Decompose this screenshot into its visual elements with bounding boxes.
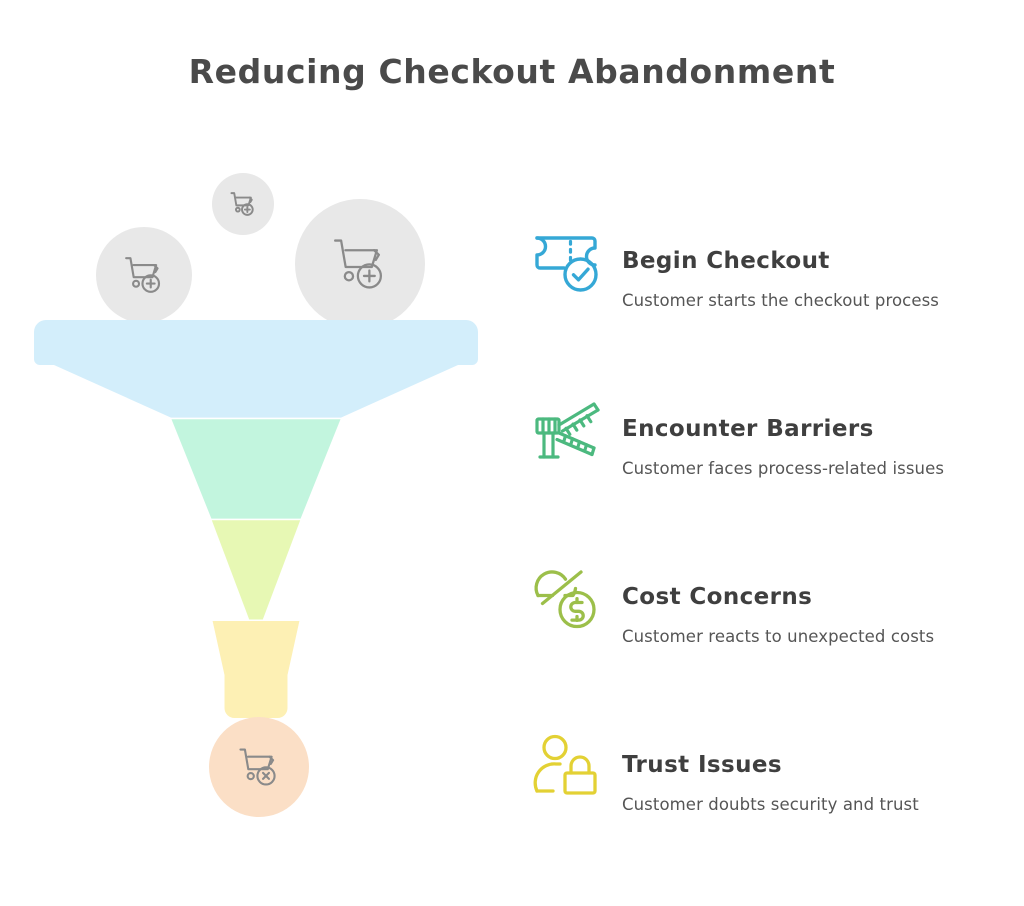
user-lock-icon — [532, 730, 604, 802]
step-heading: Trust Issues — [622, 752, 1014, 778]
funnel-panel — [0, 150, 512, 850]
page-title: Reducing Checkout Abandonment — [0, 52, 1024, 91]
step-item-trust-issues[interactable]: Trust Issues Customer doubts security an… — [520, 722, 1020, 890]
step-heading: Encounter Barriers — [622, 416, 1014, 442]
step-description: Customer doubts security and trust — [622, 795, 1014, 814]
step-item-encounter-barriers[interactable]: Encounter Barriers Customer faces proces… — [520, 386, 1020, 554]
funnel-band-encounter-barriers — [172, 419, 341, 518]
steps-list: Begin Checkout Customer starts the check… — [520, 218, 1020, 890]
step-text-block: Trust Issues Customer doubts security an… — [622, 722, 1014, 814]
step-description: Customer starts the checkout process — [622, 291, 1014, 310]
step-text-block: Cost Concerns Customer reacts to unexpec… — [622, 554, 1014, 646]
step-heading: Begin Checkout — [622, 248, 1014, 274]
cart-circle-right — [295, 199, 425, 329]
step-item-cost-concerns[interactable]: Cost Concerns Customer reacts to unexpec… — [520, 554, 1020, 722]
ticket-check-icon — [532, 226, 604, 298]
step-description: Customer reacts to unexpected costs — [622, 627, 1014, 646]
step-description: Customer faces process-related issues — [622, 459, 1014, 478]
funnel-band-begin-checkout — [34, 320, 478, 418]
step-text-block: Encounter Barriers Customer faces proces… — [622, 386, 1014, 478]
step-item-begin-checkout[interactable]: Begin Checkout Customer starts the check… — [520, 218, 1020, 386]
checkout-funnel-graphic — [0, 150, 512, 850]
no-cost-dollar-icon — [532, 562, 604, 634]
funnel-band-trust-issues — [213, 621, 300, 718]
step-text-block: Begin Checkout Customer starts the check… — [622, 218, 1014, 310]
cart-circle-left — [96, 227, 192, 323]
cart-circle-bottom — [209, 717, 309, 817]
step-heading: Cost Concerns — [622, 584, 1014, 610]
cart-circle-top — [212, 173, 274, 235]
infographic-canvas: Reducing Checkout Abandonment — [0, 0, 1024, 906]
funnel-band-cost-concerns — [212, 520, 300, 619]
barrier-gate-icon — [532, 394, 604, 466]
